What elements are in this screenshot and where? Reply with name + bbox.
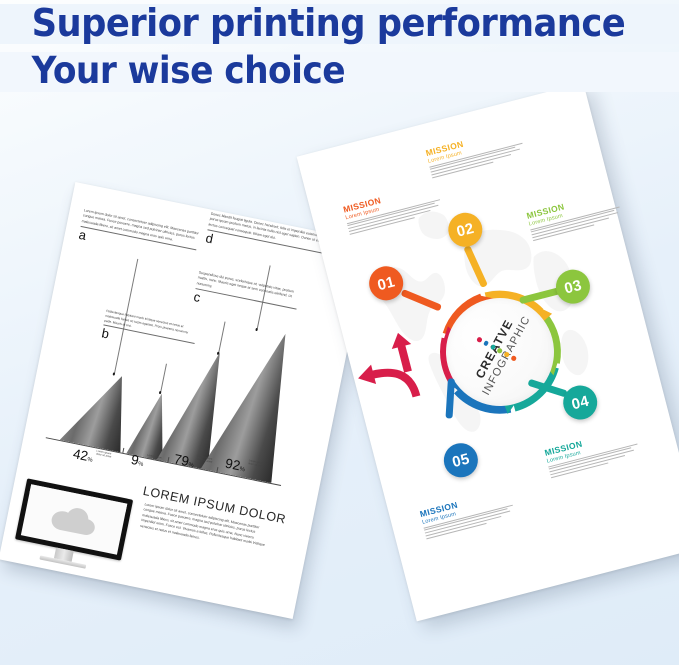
mission-block-05: MISSION Lorem Ipsum xyxy=(419,486,516,540)
chart-value-c-symbol: % xyxy=(188,462,194,469)
headline-line-2: Your wise choice xyxy=(0,48,631,94)
center-dot-6 xyxy=(510,355,516,361)
node-02-number: 02 xyxy=(455,219,476,240)
headline-line-2-row: Your wise choice xyxy=(0,48,679,96)
chart-page-content: Lorem ipsum dolor sit amet, consectetuer… xyxy=(0,182,369,619)
node-03-number: 03 xyxy=(562,276,583,297)
chart-bar-a xyxy=(60,367,136,453)
printed-page-infographic: CREATVE INFOGRAPHIC 01 MISSIO xyxy=(297,83,679,622)
node-05-number: 05 xyxy=(450,450,471,471)
center-dot-1 xyxy=(476,337,482,343)
center-dot-2 xyxy=(483,340,489,346)
chart-value-a-symbol: % xyxy=(87,457,93,464)
monitor-illustration xyxy=(15,478,133,560)
monitor-display-area xyxy=(21,484,127,554)
headline-line-1-row: Superior printing performance xyxy=(0,0,679,48)
node-01-number: 01 xyxy=(376,273,397,294)
chart-annotation-d: Donec blandit feugiat ligula. Donec hend… xyxy=(205,212,327,268)
chart-value-d-symbol: % xyxy=(239,466,245,473)
chart-annotation-a: Lorem ipsum dolor sit amet, consectetuer… xyxy=(78,208,200,264)
cloud-icon xyxy=(49,503,99,538)
leader-line-b xyxy=(160,364,167,394)
monitor-screen xyxy=(15,478,133,560)
headline-block: Superior printing performance Your wise … xyxy=(0,0,679,96)
poster-canvas: Superior printing performance Your wise … xyxy=(0,0,679,665)
headline-line-1: Superior printing performance xyxy=(0,0,631,46)
chart-annotation-c: Suspendisse dui purus, scelerisque at, v… xyxy=(193,270,301,323)
node-04-number: 04 xyxy=(570,392,591,413)
chart-value-b-symbol: % xyxy=(137,461,143,468)
printed-page-chart: Lorem ipsum dolor sit amet, consectetuer… xyxy=(0,182,369,619)
